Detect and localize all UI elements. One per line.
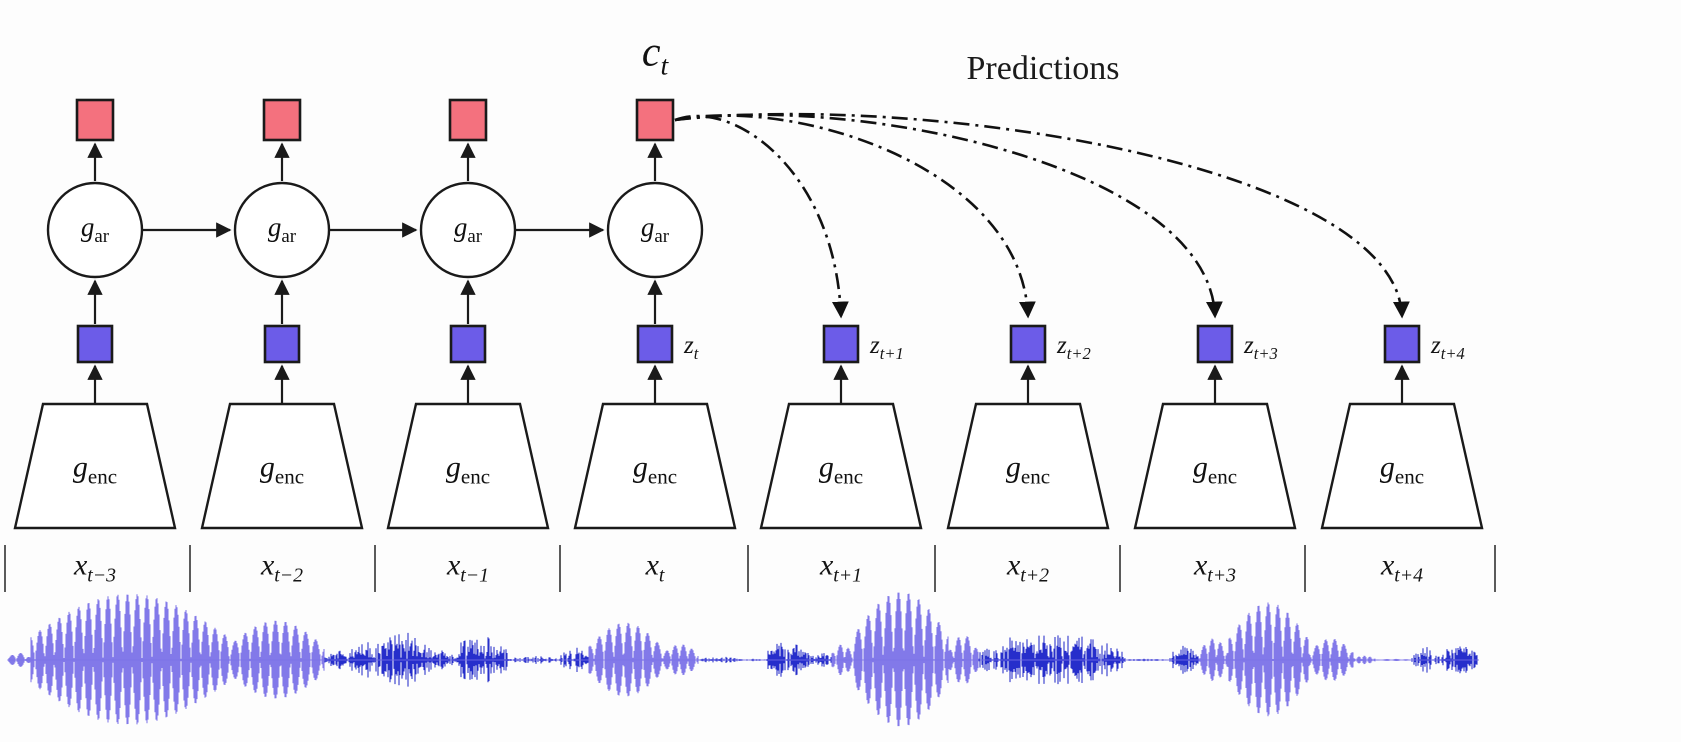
encoder-symbol: g (1006, 451, 1021, 484)
encoder-subscript: enc (275, 465, 304, 489)
input-symbol: x (1194, 549, 1207, 582)
autoregressive-label: gar (81, 212, 109, 248)
prediction-arc (675, 115, 1028, 316)
shape-layer (15, 100, 1482, 528)
encoder-label: genc (633, 451, 677, 490)
autoregressive-subscript: ar (281, 226, 296, 247)
latent-square[interactable] (638, 326, 672, 362)
latent-symbol: z (1244, 332, 1254, 359)
input-subscript: t−3 (87, 565, 116, 587)
context-vector-symbol: c (642, 29, 661, 75)
input-subscript: t (659, 565, 665, 587)
autoregressive-symbol: g (454, 212, 468, 242)
latent-subscript: t+1 (880, 344, 904, 363)
input-subscript: t+1 (833, 565, 862, 587)
encoder-subscript: enc (1395, 465, 1424, 489)
encoder-symbol: g (260, 451, 275, 484)
latent-label: zt+2 (1057, 332, 1091, 364)
encoder-subscript: enc (648, 465, 677, 489)
latent-square[interactable] (1198, 326, 1232, 362)
waveform-layer (8, 593, 1478, 727)
encoder-symbol: g (73, 451, 88, 484)
encoder-label: genc (1380, 451, 1424, 490)
encoder-label: genc (260, 451, 304, 490)
encoder-subscript: enc (1208, 465, 1237, 489)
input-label: xt+2 (1007, 549, 1049, 588)
input-label: xt−2 (261, 549, 303, 588)
input-label: xt+4 (1381, 549, 1423, 588)
input-label: xt−3 (74, 549, 116, 588)
input-subscript: t−1 (460, 565, 489, 587)
autoregressive-label: gar (268, 212, 296, 248)
latent-label: zt+4 (1431, 332, 1465, 364)
input-subscript: t+3 (1207, 565, 1236, 587)
encoder-label: genc (446, 451, 490, 490)
input-subscript: t−2 (274, 565, 303, 587)
autoregressive-subscript: ar (467, 226, 482, 247)
encoder-label: genc (73, 451, 117, 490)
encoder-label: genc (1006, 451, 1050, 490)
autoregressive-subscript: ar (94, 226, 109, 247)
predictions-label: Predictions (967, 50, 1120, 88)
input-symbol: x (74, 549, 87, 582)
context-vector-label: ct (642, 28, 668, 81)
context-square[interactable] (450, 100, 486, 140)
prediction-arc (675, 115, 1215, 316)
input-label: xt (646, 549, 665, 588)
latent-subscript: t+2 (1067, 344, 1091, 363)
input-subscript: t+2 (1020, 565, 1049, 587)
latent-square[interactable] (265, 326, 299, 362)
encoder-label: genc (819, 451, 863, 490)
latent-square[interactable] (1385, 326, 1419, 362)
autoregressive-label: gar (641, 212, 669, 248)
latent-subscript: t+3 (1254, 344, 1278, 363)
context-vector-subscript: t (660, 50, 668, 81)
diagram-svg (0, 0, 1681, 742)
autoregressive-label: gar (454, 212, 482, 248)
context-square[interactable] (264, 100, 300, 140)
autoregressive-symbol: g (81, 212, 95, 242)
encoder-symbol: g (446, 451, 461, 484)
figure-canvas: gencgencgencgencgencgencgencgencztzt+1zt… (0, 0, 1681, 742)
input-symbol: x (447, 549, 460, 582)
autoregressive-subscript: ar (654, 226, 669, 247)
prediction-arc (675, 114, 1402, 316)
autoregressive-symbol: g (641, 212, 655, 242)
encoder-subscript: enc (1021, 465, 1050, 489)
latent-label: zt+1 (870, 332, 904, 364)
input-label: xt+3 (1194, 549, 1236, 588)
input-subscript: t+4 (1394, 565, 1423, 587)
encoder-symbol: g (1380, 451, 1395, 484)
latent-symbol: z (870, 332, 880, 359)
encoder-subscript: enc (88, 465, 117, 489)
latent-square[interactable] (78, 326, 112, 362)
latent-subscript: t+4 (1441, 344, 1465, 363)
context-square[interactable] (77, 100, 113, 140)
latent-label: zt+3 (1244, 332, 1278, 364)
input-symbol: x (1007, 549, 1020, 582)
encoder-label: genc (1193, 451, 1237, 490)
input-symbol: x (646, 549, 659, 582)
input-symbol: x (820, 549, 833, 582)
autoregressive-symbol: g (268, 212, 282, 242)
latent-symbol: z (1431, 332, 1441, 359)
latent-square[interactable] (824, 326, 858, 362)
prediction-arc-layer (675, 114, 1402, 316)
latent-symbol: z (1057, 332, 1067, 359)
input-symbol: x (1381, 549, 1394, 582)
input-label: xt−1 (447, 549, 489, 588)
encoder-symbol: g (819, 451, 834, 484)
latent-subscript: t (694, 344, 699, 363)
latent-label: zt (684, 332, 698, 364)
latent-symbol: z (684, 332, 694, 359)
encoder-subscript: enc (834, 465, 863, 489)
context-square[interactable] (637, 100, 673, 140)
input-label: xt+1 (820, 549, 862, 588)
latent-square[interactable] (451, 326, 485, 362)
encoder-symbol: g (633, 451, 648, 484)
input-symbol: x (261, 549, 274, 582)
separator-layer (5, 545, 1495, 592)
encoder-subscript: enc (461, 465, 490, 489)
latent-square[interactable] (1011, 326, 1045, 362)
encoder-symbol: g (1193, 451, 1208, 484)
